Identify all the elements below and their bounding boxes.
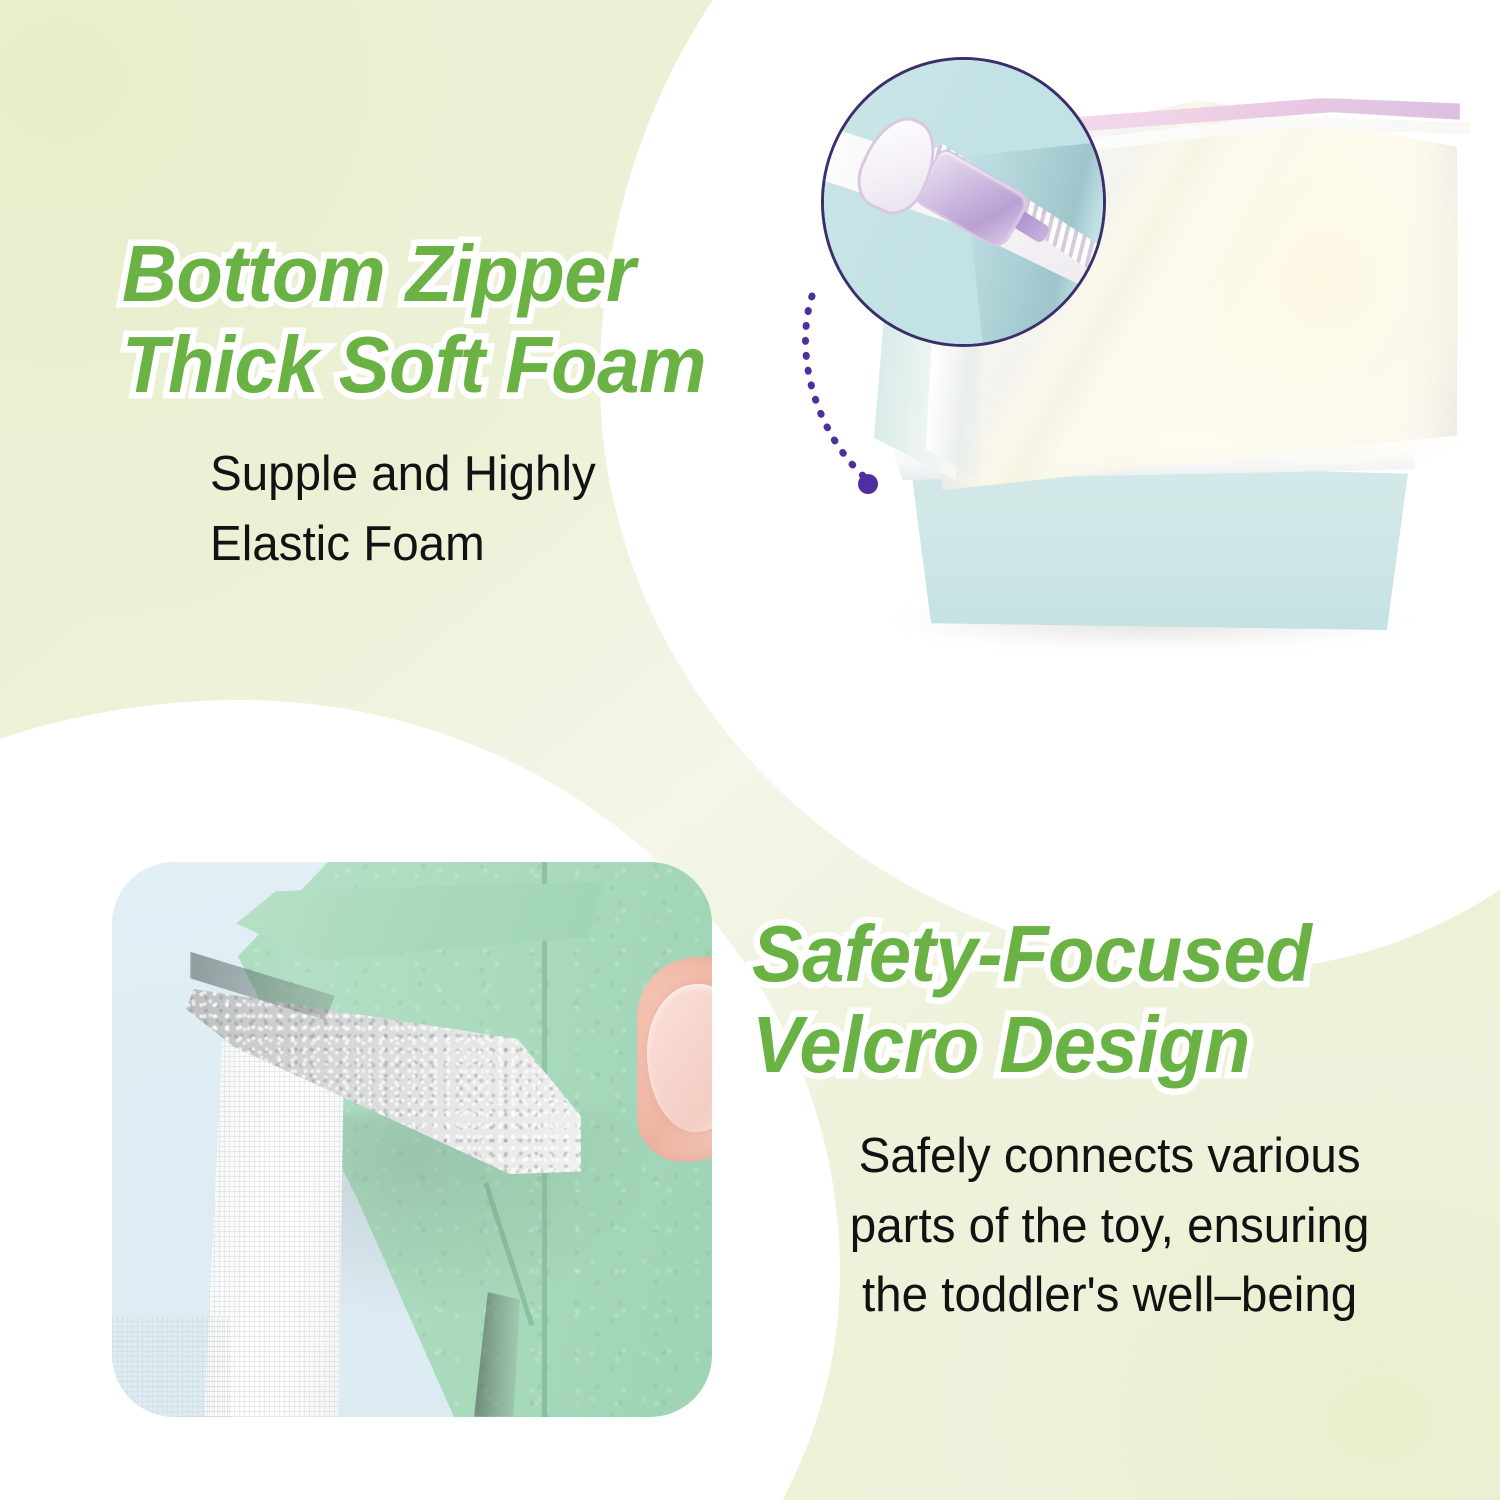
- foam-cream-highlight: [1130, 115, 1460, 485]
- product-feature-poster: Bottom Zipper Thick Soft Foam Supple and…: [0, 0, 1500, 1500]
- feature-2-headline: Safety-Focused Velcro Design: [752, 908, 1311, 1090]
- velcro-photo: [112, 862, 712, 1417]
- callout-endpoint-dot: [858, 474, 878, 494]
- velcro-loop-strip-2: [112, 1317, 232, 1417]
- zipper-detail-callout: [821, 57, 1106, 347]
- feature-1-subtext: Supple and Highly Elastic Foam: [210, 440, 596, 579]
- feature-2-subtext: Safely connects various parts of the toy…: [838, 1122, 1381, 1331]
- feature-1-headline: Bottom Zipper Thick Soft Foam: [122, 228, 706, 410]
